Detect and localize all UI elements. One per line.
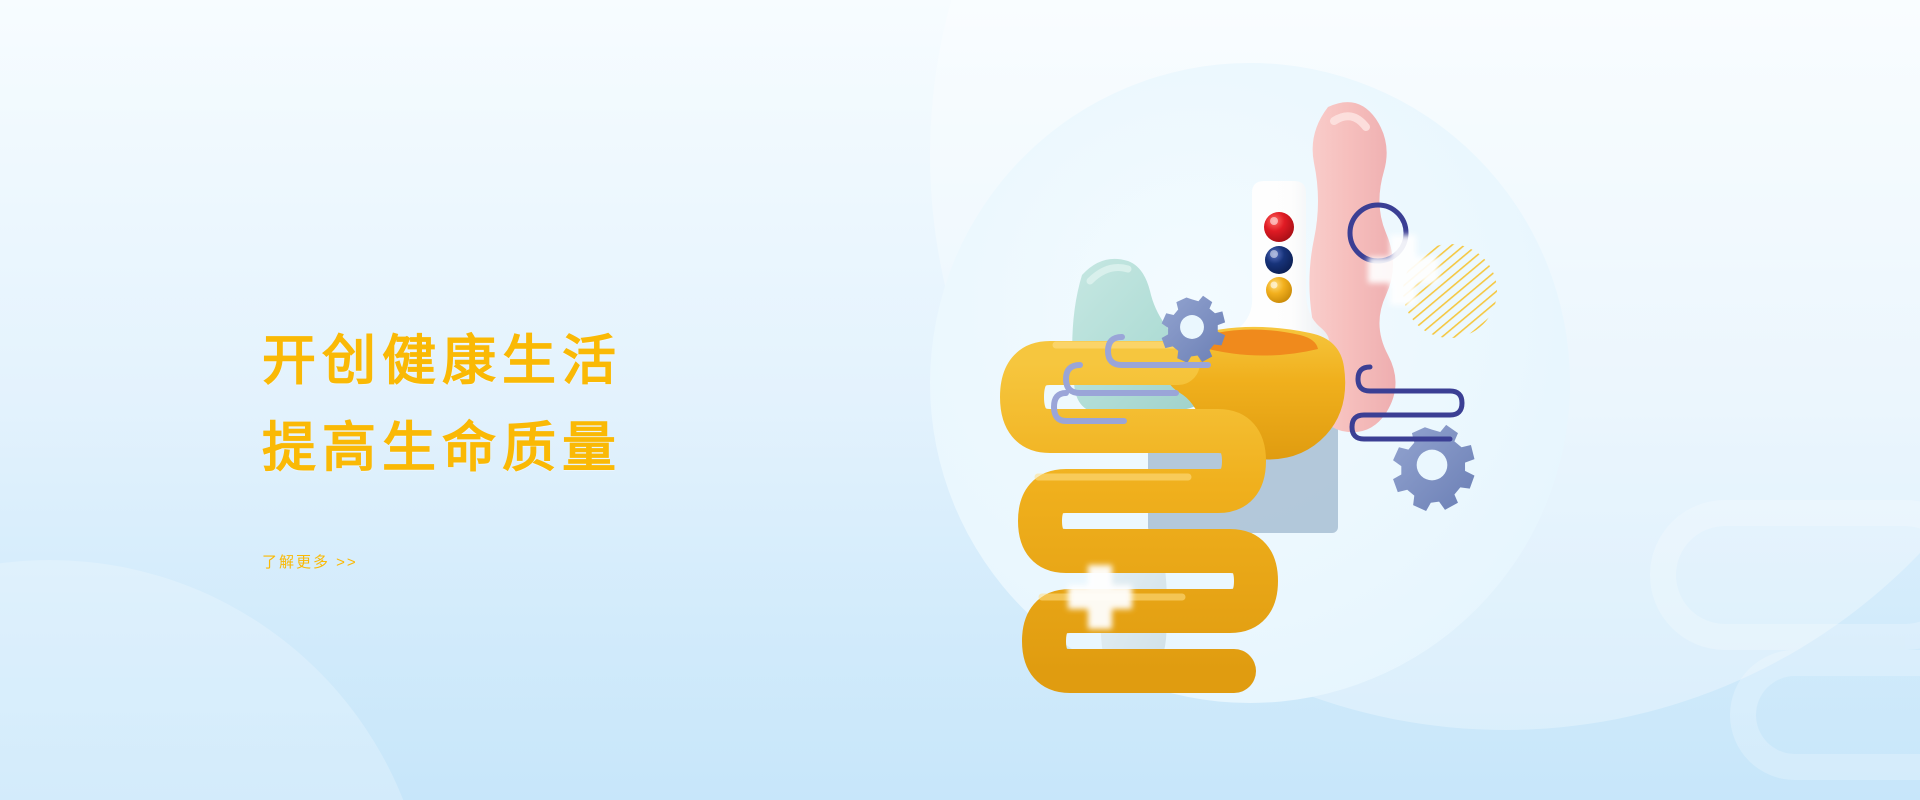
pill-red-glint xyxy=(1270,217,1278,225)
pill-navy-glint xyxy=(1270,250,1278,258)
pill-yellow-glint xyxy=(1271,282,1278,289)
pill-red xyxy=(1264,212,1294,242)
hero-copy: 开创健康生活 提高生命质量 了解更多 >> xyxy=(262,318,902,572)
hero-banner: 开创健康生活 提高生命质量 了解更多 >> xyxy=(0,0,1920,800)
pill-yellow xyxy=(1266,277,1292,303)
pill-navy xyxy=(1265,246,1293,274)
background-loop-decoration-1 xyxy=(1650,500,1920,650)
background-loop-decoration-2 xyxy=(1730,650,1920,780)
illustration-svg xyxy=(930,45,1620,745)
headline-line-2: 提高生命质量 xyxy=(262,405,902,492)
headline-line-1: 开创健康生活 xyxy=(262,318,902,405)
learn-more-link[interactable]: 了解更多 >> xyxy=(262,551,358,572)
illustration xyxy=(930,45,1620,745)
background-blob-bottom-left xyxy=(0,560,430,800)
